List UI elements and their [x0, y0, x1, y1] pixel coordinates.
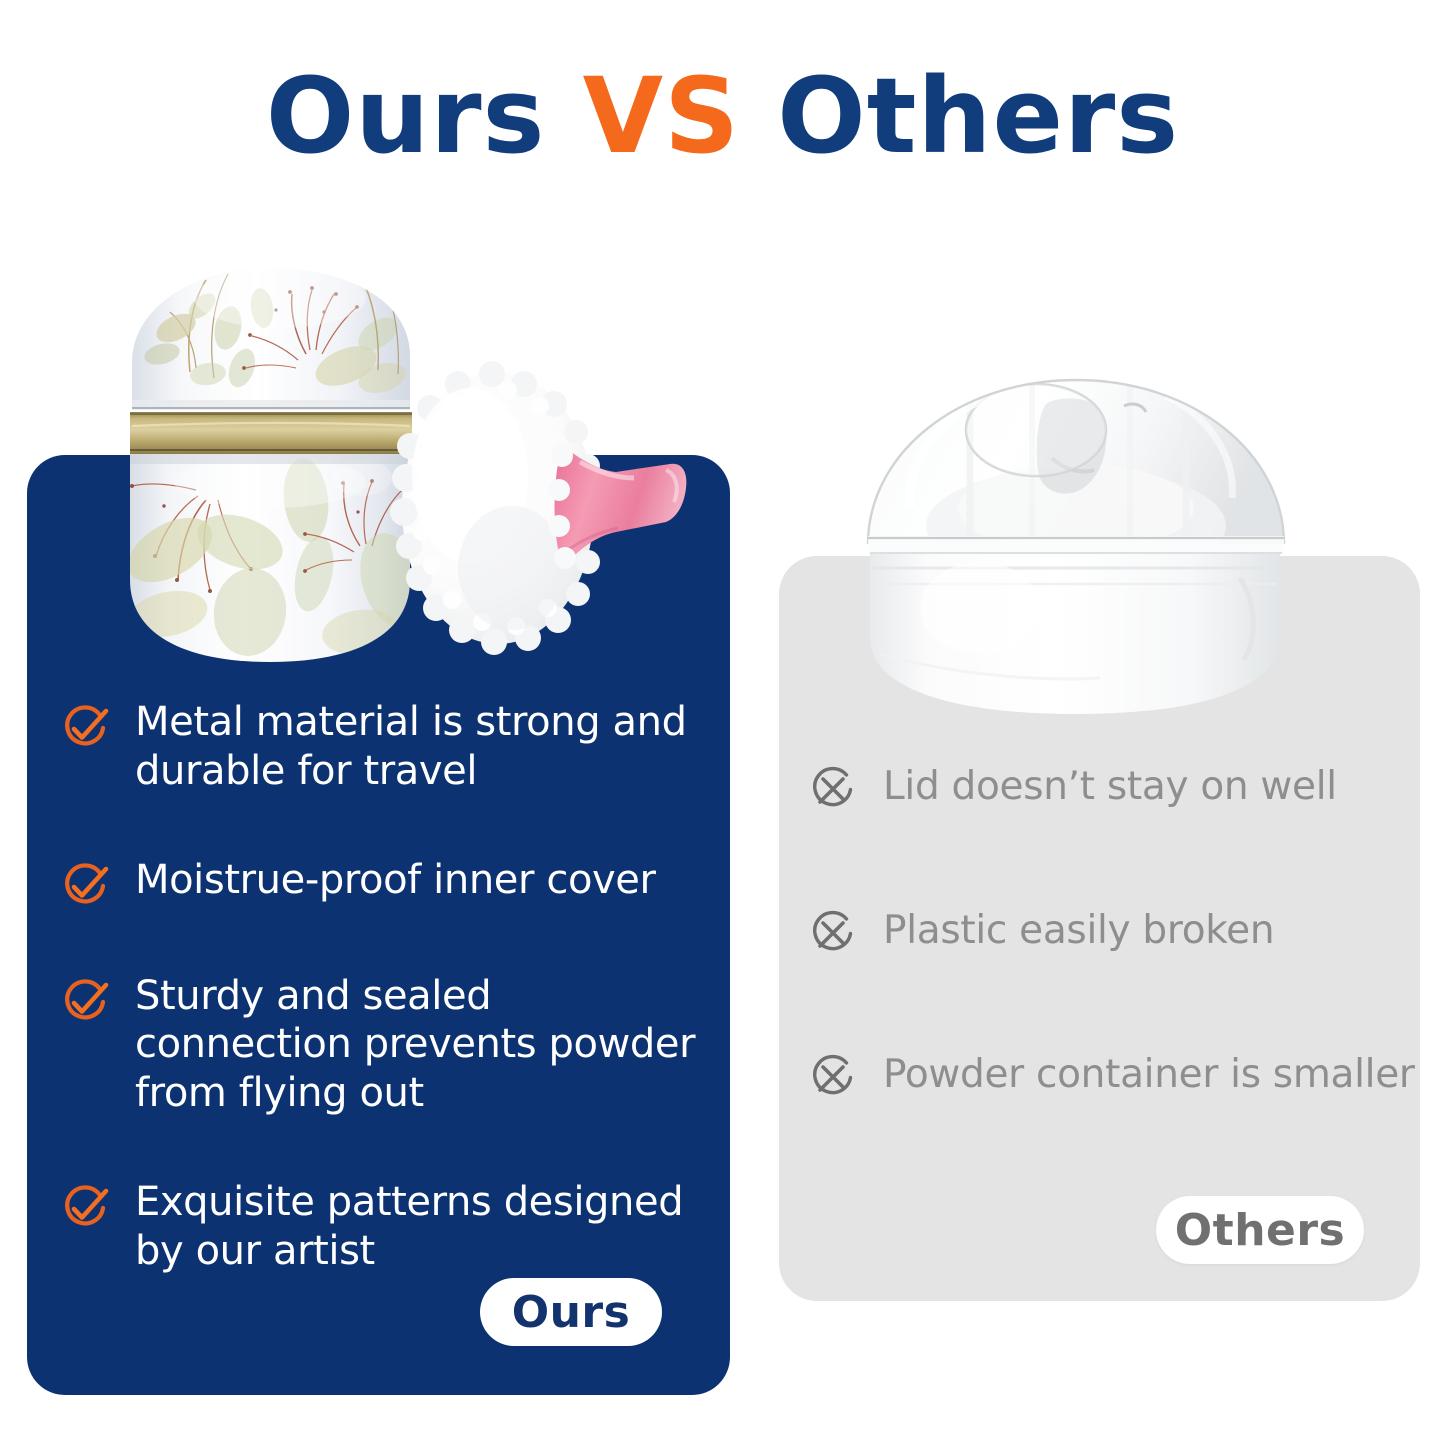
others-badge-label: Others [1175, 1205, 1346, 1256]
others-feature-list: Lid doesn’t stay on well Plastic easily … [807, 759, 1407, 1103]
page-title: Ours VS Others [0, 62, 1445, 171]
others-badge: Others [1156, 1196, 1364, 1264]
check-circle-icon [59, 860, 111, 912]
lid-seam [868, 536, 1284, 554]
list-item-label: Lid doesn’t stay on well [883, 764, 1337, 811]
list-item-label: Plastic easily broken [883, 908, 1274, 955]
list-item-label: Exquisite patterns designed by our artis… [135, 1178, 719, 1276]
others-product-image [840, 358, 1310, 723]
list-item-label: Powder container is smaller [883, 1052, 1415, 1099]
check-circle-icon [59, 702, 111, 754]
list-item-label: Sturdy and sealed connection prevents po… [135, 972, 719, 1118]
list-item: Sturdy and sealed connection prevents po… [59, 972, 719, 1118]
x-circle-icon [807, 907, 859, 959]
comparison-infographic: Ours VS Others Metal material is strong … [0, 0, 1445, 1445]
title-word-others: Others [777, 55, 1179, 177]
ours-product-image [110, 250, 730, 680]
ours-feature-list: Metal material is strong and durable for… [59, 698, 719, 1276]
list-item: Metal material is strong and durable for… [59, 698, 719, 796]
list-item: Moistrue-proof inner cover [59, 856, 719, 912]
check-circle-icon [59, 1182, 111, 1234]
title-word-vs: VS [583, 55, 740, 177]
x-circle-icon [807, 763, 859, 815]
tin-lid [132, 268, 410, 410]
check-circle-icon [59, 976, 111, 1028]
list-item-label: Metal material is strong and durable for… [135, 698, 719, 796]
title-word-ours: Ours [266, 55, 546, 177]
powder-puff [390, 361, 686, 655]
list-item: Lid doesn’t stay on well [807, 759, 1407, 815]
list-item: Plastic easily broken [807, 903, 1407, 959]
list-item: Exquisite patterns designed by our artis… [59, 1178, 719, 1276]
ours-badge-label: Ours [512, 1287, 631, 1338]
ours-badge: Ours [480, 1278, 662, 1346]
x-circle-icon [807, 1051, 859, 1103]
plastic-base [870, 554, 1280, 714]
list-item-label: Moistrue-proof inner cover [135, 856, 656, 905]
tin-body [117, 454, 434, 662]
gold-band [130, 412, 412, 454]
list-item: Powder container is smaller [807, 1047, 1407, 1103]
